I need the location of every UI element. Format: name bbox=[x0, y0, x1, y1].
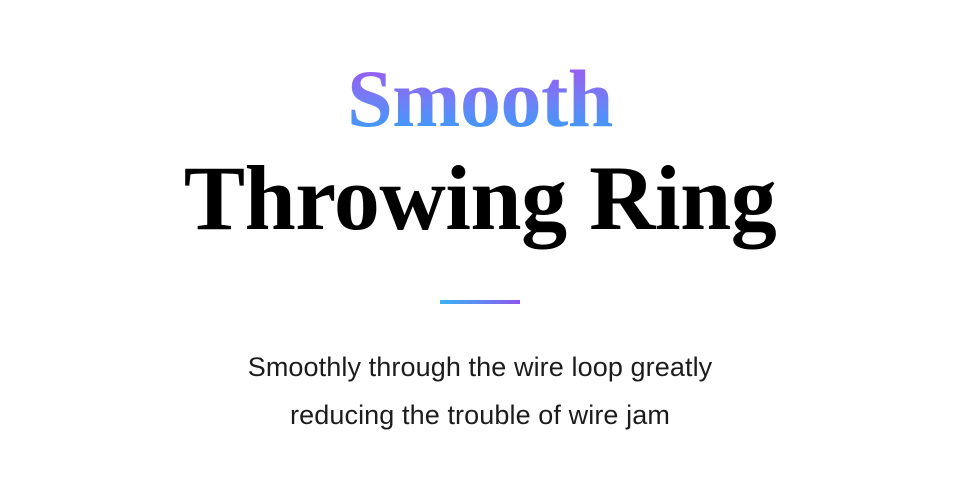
subtitle-line-1: Smoothly through the wire loop greatly bbox=[0, 343, 960, 391]
divider-wrap bbox=[0, 300, 960, 304]
gradient-divider bbox=[440, 300, 520, 304]
subtitle-block: Smoothly through the wire loop greatly r… bbox=[0, 343, 960, 439]
page-title: Throwing Ring bbox=[0, 152, 960, 244]
product-feature-banner: Smooth Throwing Ring Smoothly through th… bbox=[0, 0, 960, 493]
headline-block: Smooth Throwing Ring bbox=[0, 58, 960, 244]
subtitle-line-2: reducing the trouble of wire jam bbox=[0, 391, 960, 439]
headline-accent-word: Smooth bbox=[0, 58, 960, 140]
